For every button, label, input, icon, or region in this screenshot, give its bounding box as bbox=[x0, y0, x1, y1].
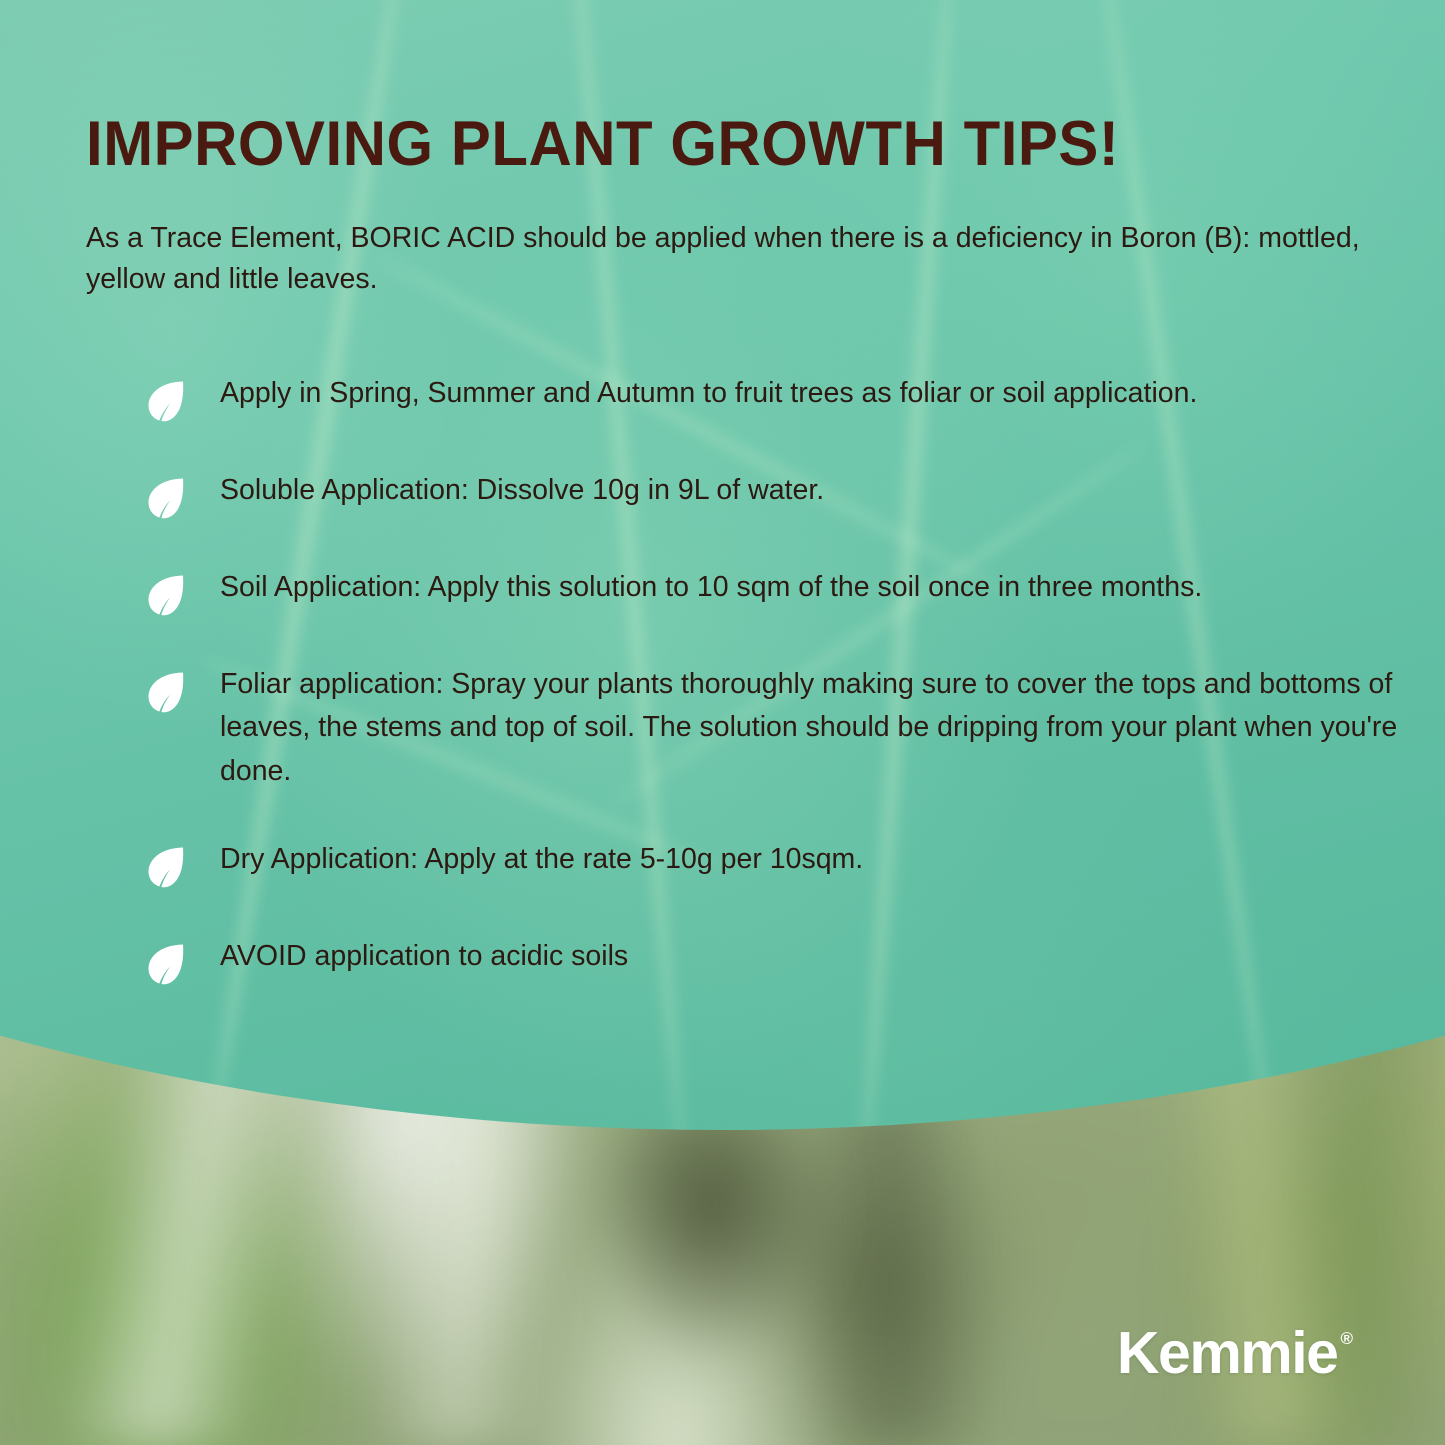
leaf-icon bbox=[146, 845, 186, 889]
leaf-icon bbox=[146, 942, 186, 986]
list-item: Foliar application: Spray your plants th… bbox=[140, 663, 1410, 793]
poster-content: IMPROVING PLANT GROWTH TIPS! As a Trace … bbox=[0, 0, 1445, 1445]
tips-list: Apply in Spring, Summer and Autumn to fr… bbox=[140, 372, 1410, 987]
list-item-label: AVOID application to acidic soils bbox=[220, 935, 1410, 978]
poster-canvas: IMPROVING PLANT GROWTH TIPS! As a Trace … bbox=[0, 0, 1445, 1445]
intro-paragraph: As a Trace Element, BORIC ACID should be… bbox=[86, 218, 1368, 301]
leaf-icon bbox=[146, 476, 186, 520]
leaf-icon bbox=[146, 670, 186, 714]
leaf-icon bbox=[146, 573, 186, 617]
list-item-label: Apply in Spring, Summer and Autumn to fr… bbox=[220, 372, 1410, 415]
list-item: AVOID application to acidic soils bbox=[140, 935, 1410, 987]
list-item-label: Foliar application: Spray your plants th… bbox=[220, 663, 1410, 793]
list-item-label: Dry Application: Apply at the rate 5-10g… bbox=[220, 838, 1410, 881]
list-item-label: Soluble Application: Dissolve 10g in 9L … bbox=[220, 469, 1410, 512]
brand-name: Kemmie bbox=[1117, 1324, 1338, 1383]
list-item: Soluble Application: Dissolve 10g in 9L … bbox=[140, 469, 1410, 521]
registered-trademark-icon: ® bbox=[1340, 1330, 1353, 1347]
list-item: Soil Application: Apply this solution to… bbox=[140, 566, 1410, 618]
list-item: Apply in Spring, Summer and Autumn to fr… bbox=[140, 372, 1410, 424]
page-title: IMPROVING PLANT GROWTH TIPS! bbox=[86, 112, 1312, 178]
leaf-icon bbox=[146, 379, 186, 423]
list-item: Dry Application: Apply at the rate 5-10g… bbox=[140, 838, 1410, 890]
brand-logo: Kemmie ® bbox=[1117, 1324, 1353, 1383]
list-item-label: Soil Application: Apply this solution to… bbox=[220, 566, 1410, 609]
